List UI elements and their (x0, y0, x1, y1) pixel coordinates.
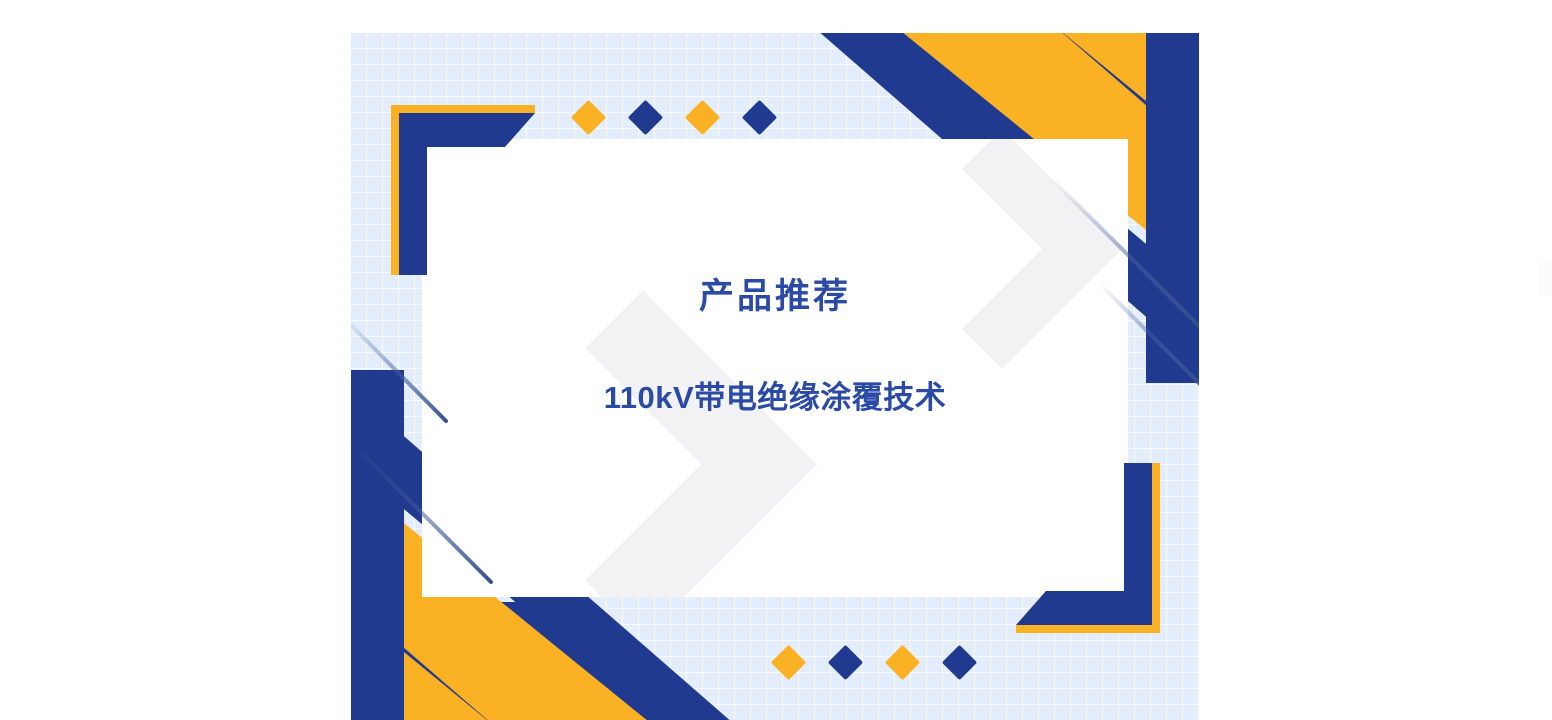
presentation-slide: 产品推荐 110kV带电绝缘涂覆技术 (351, 33, 1199, 720)
content-card (422, 139, 1128, 597)
slide-canvas: 产品推荐 110kV带电绝缘涂覆技术 (0, 0, 1552, 720)
right-edge-artifact (1538, 258, 1552, 296)
